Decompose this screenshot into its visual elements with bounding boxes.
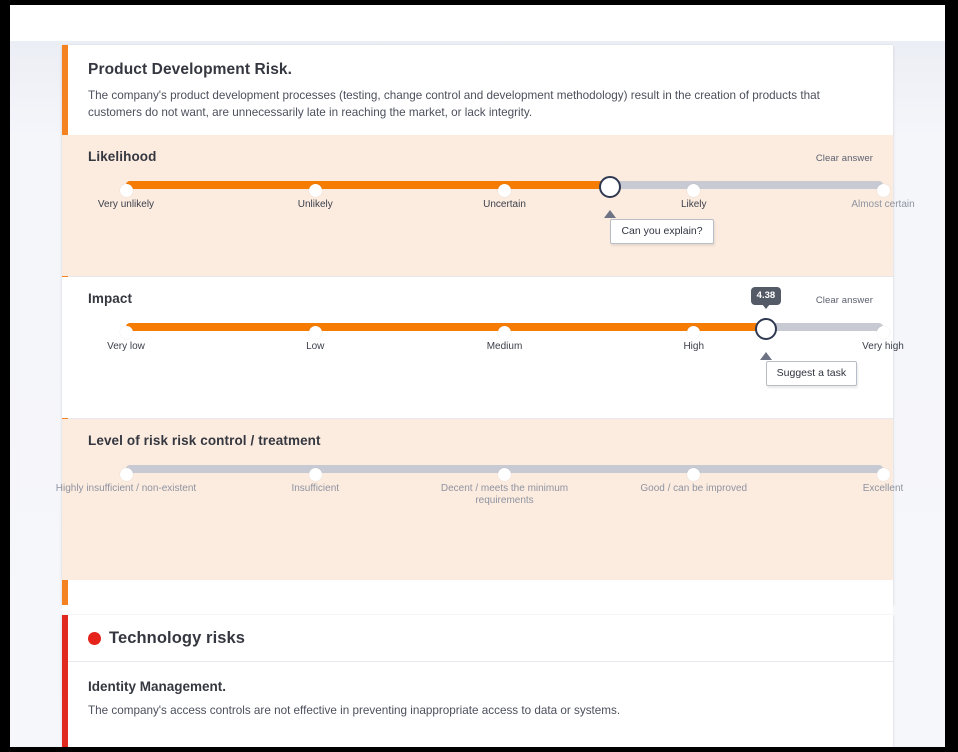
slider-handle-impact[interactable] — [755, 318, 777, 340]
slider-tick-level-of-risk-control-0[interactable] — [120, 468, 133, 481]
slider-control-likelihood[interactable]: Very unlikelyUnlikelyUncertainLikelyAlmo… — [88, 176, 873, 272]
slider-tick-impact-3[interactable] — [687, 326, 700, 339]
slider-tick-label-likelihood-4: Almost certain — [808, 199, 945, 211]
red-status-dot-icon — [88, 632, 101, 645]
slider-tick-likelihood-0[interactable] — [120, 184, 133, 197]
slider-tick-label-impact-4: Very high — [808, 341, 945, 353]
slider-tick-level-of-risk-control-3[interactable] — [687, 468, 700, 481]
slider-value-bubble-impact: 4.38 — [751, 287, 782, 305]
technology-risks-header[interactable]: Technology risks — [62, 615, 893, 662]
slider-section-level-of-risk-control: Level of risk risk control / treatmentHi… — [62, 419, 893, 580]
callout-button-likelihood[interactable]: Can you explain? — [610, 219, 713, 244]
slider-sections: LikelihoodClear answerVery unlikelyUnlik… — [62, 135, 893, 580]
callout-arrow-impact — [760, 352, 772, 360]
slider-tick-label-level-of-risk-control-1: Insufficient — [240, 483, 390, 495]
slider-tick-label-impact-3: High — [619, 341, 769, 353]
slider-tick-label-likelihood-1: Unlikely — [240, 199, 390, 211]
slider-title-impact: Impact — [88, 291, 132, 306]
browser-chrome-bar — [10, 5, 945, 41]
slider-title-likelihood: Likelihood — [88, 149, 157, 164]
identity-management-section: Identity Management. The company's acces… — [62, 662, 893, 719]
slider-tick-likelihood-3[interactable] — [687, 184, 700, 197]
slider-header-level-of-risk-control: Level of risk risk control / treatment — [88, 433, 873, 448]
callout-arrow-likelihood — [604, 210, 616, 218]
slider-track-level-of-risk-control[interactable]: Highly insufficient / non-existentInsuff… — [126, 465, 883, 473]
slider-track-fill-impact — [126, 323, 766, 331]
slider-tick-label-likelihood-2: Uncertain — [430, 199, 580, 211]
slider-tick-likelihood-2[interactable] — [498, 184, 511, 197]
slider-control-impact[interactable]: Very lowLowMediumHighVery high4.38Sugges… — [88, 318, 873, 414]
technology-risks-title: Technology risks — [109, 629, 245, 648]
clear-answer-link-impact[interactable]: Clear answer — [816, 295, 873, 306]
slider-tick-label-likelihood-0: Very unlikely — [51, 199, 201, 211]
technology-risks-accent-bar — [62, 615, 68, 747]
slider-tick-level-of-risk-control-2[interactable] — [498, 468, 511, 481]
slider-header-likelihood: LikelihoodClear answer — [88, 149, 873, 164]
slider-tick-impact-4[interactable] — [877, 326, 890, 339]
slider-section-likelihood: LikelihoodClear answerVery unlikelyUnlik… — [62, 135, 893, 276]
slider-track-impact[interactable]: Very lowLowMediumHighVery high4.38Sugges… — [126, 323, 883, 331]
slider-tick-label-impact-1: Low — [240, 341, 390, 353]
slider-tick-likelihood-4[interactable] — [877, 184, 890, 197]
screen-viewport: Product Development Risk. The company's … — [0, 0, 958, 752]
slider-tick-label-impact-0: Very low — [51, 341, 201, 353]
risk-title: Product Development Risk. — [88, 61, 873, 79]
identity-management-description: The company's access controls are not ef… — [88, 703, 873, 719]
page-scroll-area[interactable]: Product Development Risk. The company's … — [10, 41, 945, 747]
slider-handle-likelihood[interactable] — [599, 176, 621, 198]
risk-card-header: Product Development Risk. The company's … — [62, 45, 893, 135]
slider-track-likelihood[interactable]: Very unlikelyUnlikelyUncertainLikelyAlmo… — [126, 181, 883, 189]
slider-tick-likelihood-1[interactable] — [309, 184, 322, 197]
slider-tick-impact-2[interactable] — [498, 326, 511, 339]
slider-tick-level-of-risk-control-4[interactable] — [877, 468, 890, 481]
callout-button-impact[interactable]: Suggest a task — [766, 361, 857, 386]
slider-title-level-of-risk-control: Level of risk risk control / treatment — [88, 433, 321, 448]
identity-management-title: Identity Management. — [88, 679, 873, 694]
slider-tick-level-of-risk-control-1[interactable] — [309, 468, 322, 481]
slider-section-impact: ImpactClear answerVery lowLowMediumHighV… — [62, 277, 893, 418]
slider-tick-label-likelihood-3: Likely — [619, 199, 769, 211]
risk-description: The company's product development proces… — [88, 88, 873, 121]
slider-tick-impact-0[interactable] — [120, 326, 133, 339]
slider-tick-label-level-of-risk-control-2: Decent / meets the minimum requirements — [430, 483, 580, 506]
slider-tick-label-impact-2: Medium — [430, 341, 580, 353]
clear-answer-link-likelihood[interactable]: Clear answer — [816, 153, 873, 164]
slider-tick-label-level-of-risk-control-4: Excellent — [808, 483, 945, 495]
slider-tick-impact-1[interactable] — [309, 326, 322, 339]
risk-card: Product Development Risk. The company's … — [62, 45, 893, 605]
slider-track-fill-likelihood — [126, 181, 610, 189]
slider-tick-label-level-of-risk-control-0: Highly insufficient / non-existent — [51, 483, 201, 495]
technology-risks-card: Technology risks Identity Management. Th… — [62, 615, 893, 747]
slider-tick-label-level-of-risk-control-3: Good / can be improved — [619, 483, 769, 495]
slider-control-level-of-risk-control[interactable]: Highly insufficient / non-existentInsuff… — [88, 460, 873, 576]
